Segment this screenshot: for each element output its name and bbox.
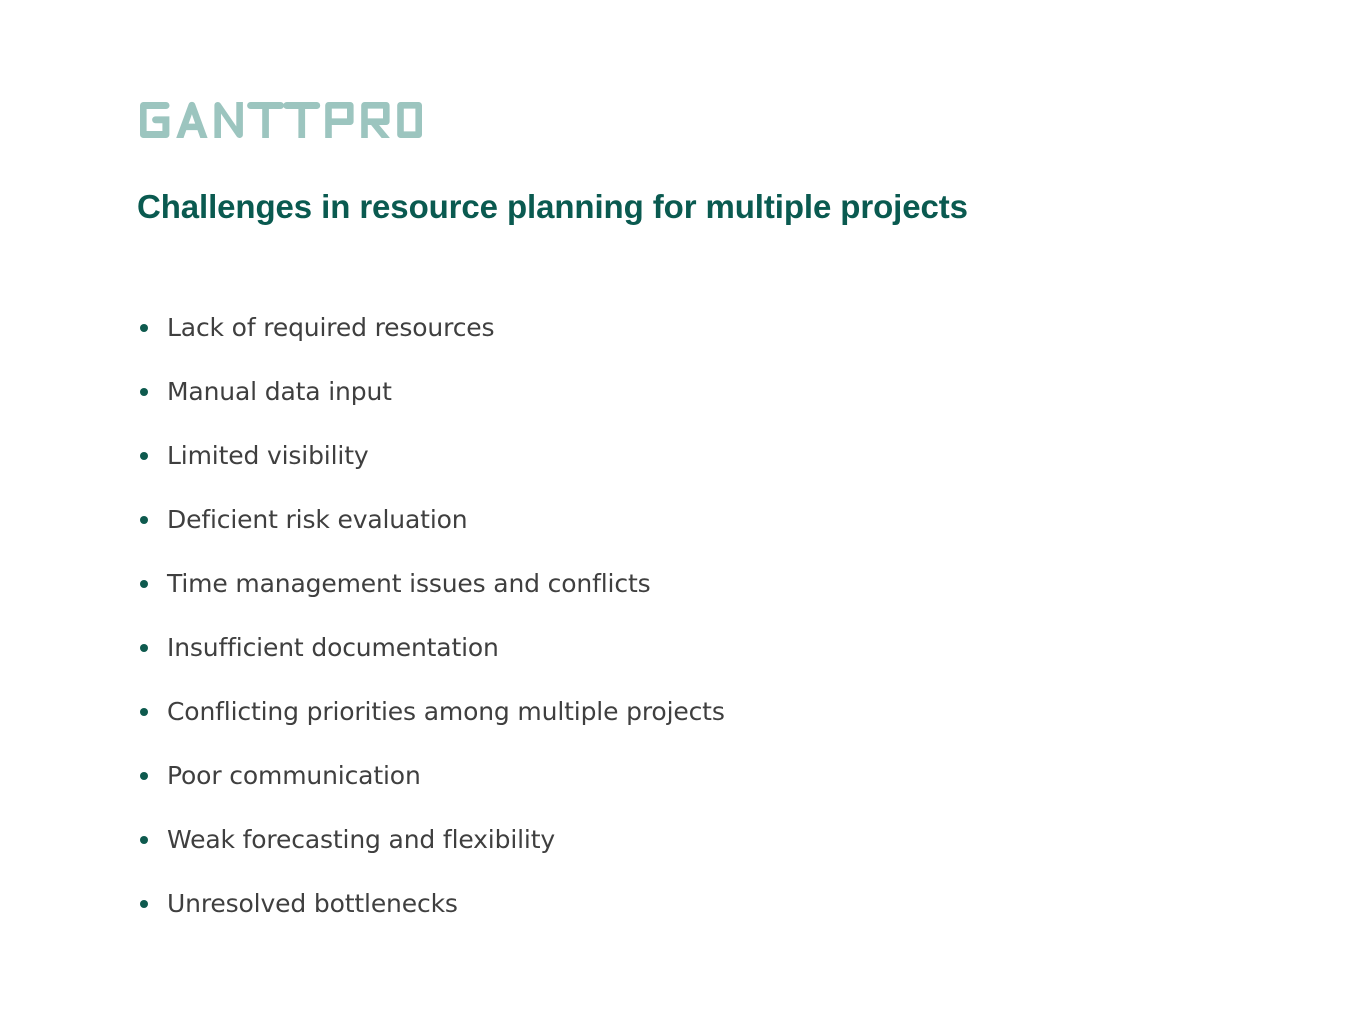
bullet-dot-icon [140,388,148,396]
page-title: Challenges in resource planning for mult… [137,186,1257,227]
list-item: Manual data input [138,360,1238,424]
ganttpro-logo [138,101,424,139]
bullet-dot-icon [140,708,148,716]
list-item: Weak forecasting and flexibility [138,808,1238,872]
list-item: Deficient risk evaluation [138,488,1238,552]
bullet-dot-icon [140,516,148,524]
list-item-label: Insufficient documentation [167,633,499,663]
bullet-dot-icon [140,452,148,460]
bullet-dot-icon [140,580,148,588]
list-item-label: Weak forecasting and flexibility [167,825,555,855]
list-item-label: Conflicting priorities among multiple pr… [167,697,725,727]
list-item-label: Lack of required resources [167,313,494,343]
list-item-label: Unresolved bottlenecks [167,889,458,919]
bullet-dot-icon [140,772,148,780]
list-item: Lack of required resources [138,296,1238,360]
list-item-label: Time management issues and conflicts [167,569,650,599]
list-item-label: Limited visibility [167,441,369,471]
list-item-label: Poor communication [167,761,421,791]
list-item: Conflicting priorities among multiple pr… [138,680,1238,744]
list-item-label: Manual data input [167,377,392,407]
bullet-dot-icon [140,900,148,908]
list-item: Unresolved bottlenecks [138,872,1238,936]
challenges-list: Lack of required resources Manual data i… [138,296,1238,936]
presentation-slide: Challenges in resource planning for mult… [0,0,1368,1012]
list-item: Insufficient documentation [138,616,1238,680]
list-item: Time management issues and conflicts [138,552,1238,616]
list-item: Poor communication [138,744,1238,808]
bullet-dot-icon [140,324,148,332]
list-item-label: Deficient risk evaluation [167,505,467,535]
list-item: Limited visibility [138,424,1238,488]
bullet-dot-icon [140,644,148,652]
ganttpro-logo-icon [138,101,424,139]
bullet-dot-icon [140,836,148,844]
